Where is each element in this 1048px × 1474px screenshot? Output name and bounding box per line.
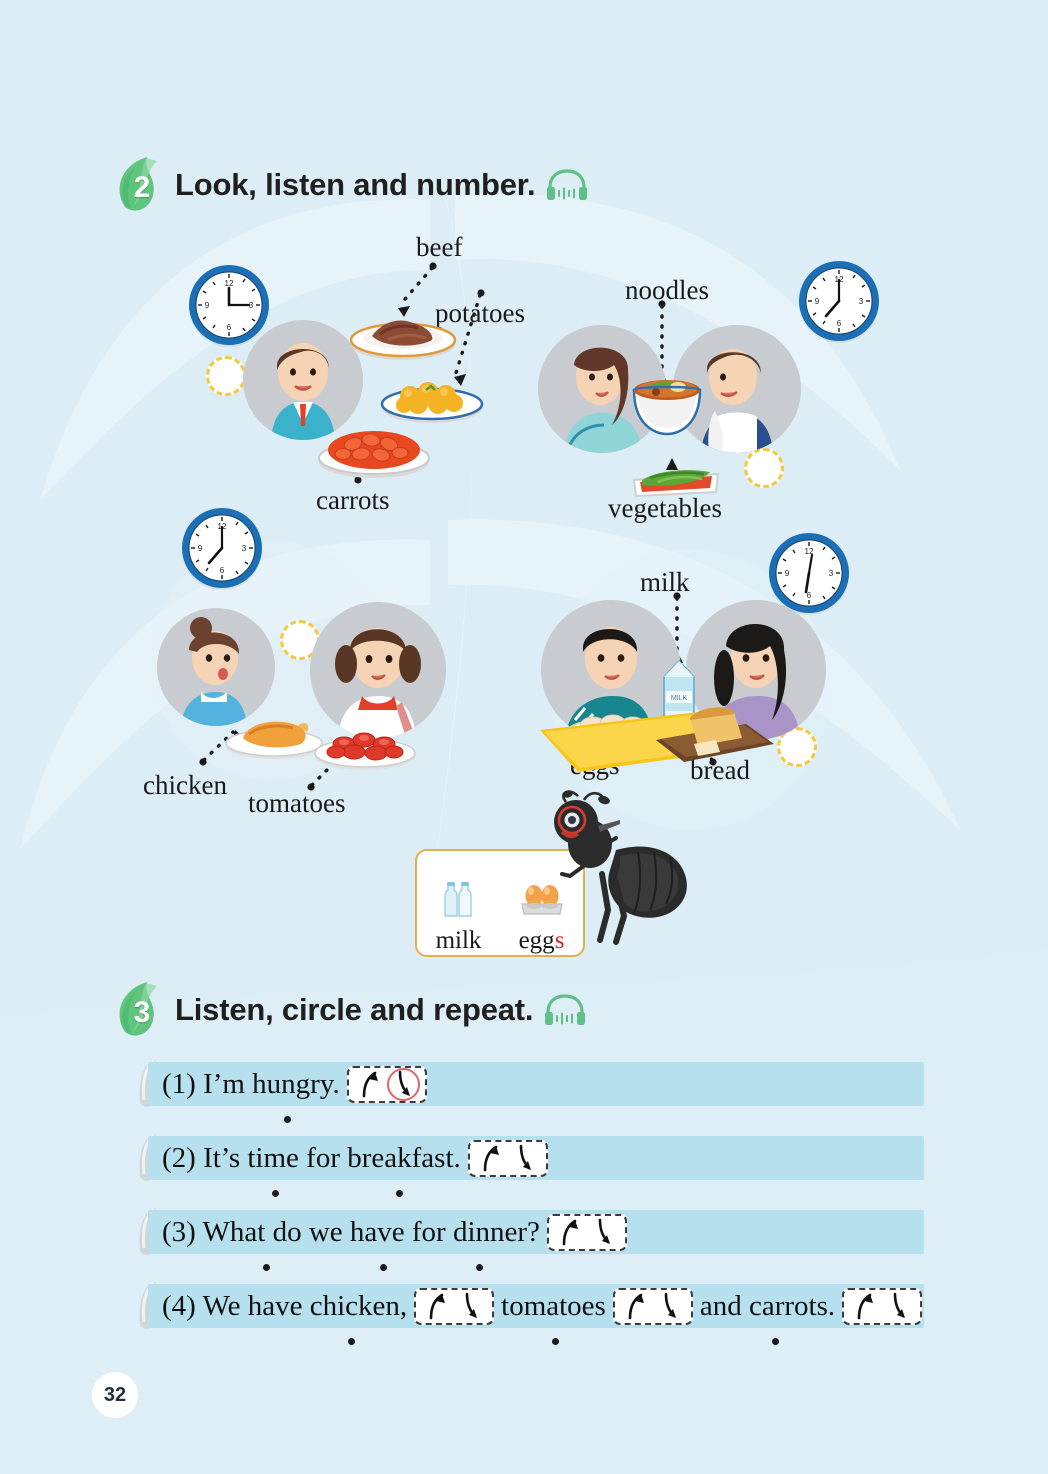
clock-right-bottom: 12 3 6 9 bbox=[765, 530, 853, 623]
stress-dots bbox=[148, 1112, 938, 1132]
svg-text:MILK: MILK bbox=[671, 695, 688, 702]
milk-bottles-icon bbox=[440, 878, 478, 925]
section-number: 3 bbox=[113, 980, 169, 1040]
svg-text:12: 12 bbox=[218, 522, 227, 531]
stress-dots bbox=[148, 1186, 938, 1206]
section-heading-3: 3 Listen, circle and repeat. bbox=[113, 980, 587, 1040]
arrow-down-icon[interactable] bbox=[394, 1070, 414, 1098]
food-eggs-plate bbox=[565, 706, 659, 753]
food-label-chicken: chicken bbox=[143, 770, 227, 801]
tone-choice-box[interactable] bbox=[842, 1288, 922, 1325]
arrow-up-icon[interactable] bbox=[560, 1218, 580, 1246]
arrow-down-icon[interactable] bbox=[889, 1292, 909, 1320]
ant-mascot-icon bbox=[520, 790, 700, 965]
food-label-vegetables: vegetables bbox=[608, 493, 722, 524]
photo-girl-bun bbox=[157, 608, 275, 726]
svg-text:6: 6 bbox=[220, 566, 225, 575]
tone-choice-box[interactable] bbox=[547, 1214, 627, 1251]
arrow-up-icon[interactable] bbox=[626, 1292, 646, 1320]
answer-circle-mark bbox=[387, 1068, 420, 1101]
food-vegetables-plate bbox=[628, 452, 724, 503]
arrow-up-icon[interactable] bbox=[360, 1070, 380, 1098]
arrow-up-icon[interactable] bbox=[481, 1144, 501, 1172]
svg-text:12: 12 bbox=[225, 279, 234, 288]
answer-circle-3[interactable] bbox=[280, 620, 320, 660]
tone-choice-box[interactable] bbox=[613, 1288, 693, 1325]
photo-girl-pigtails bbox=[310, 602, 446, 738]
sentence-text: (4) We have chicken, bbox=[162, 1290, 407, 1323]
arrow-down-icon[interactable] bbox=[515, 1144, 535, 1172]
svg-text:12: 12 bbox=[835, 275, 844, 284]
arrow-down-icon[interactable] bbox=[594, 1218, 614, 1246]
section-title: Look, listen and number. bbox=[175, 167, 535, 203]
svg-text:12: 12 bbox=[805, 547, 814, 556]
food-bread-board bbox=[650, 700, 780, 775]
food-potatoes-plate bbox=[378, 362, 486, 429]
tone-choice-box[interactable] bbox=[347, 1066, 427, 1103]
food-label-carrots: carrots bbox=[316, 485, 389, 516]
sentence-text: (3) What do we have for dinner? bbox=[162, 1216, 540, 1249]
sentence-text: (2) It’s time for breakfast. bbox=[162, 1142, 461, 1175]
food-noodles-bowl bbox=[630, 362, 704, 443]
arrow-down-icon[interactable] bbox=[461, 1292, 481, 1320]
photo-boy-lunch bbox=[243, 320, 363, 440]
svg-text:9: 9 bbox=[205, 301, 210, 310]
arrow-down-icon[interactable] bbox=[660, 1292, 680, 1320]
svg-text:9: 9 bbox=[785, 569, 790, 578]
leaf-badge-2: 2 bbox=[113, 155, 169, 215]
food-label-bread: bread bbox=[690, 755, 750, 786]
headphones-icon bbox=[543, 993, 587, 1027]
svg-text:3: 3 bbox=[829, 569, 834, 578]
svg-text:9: 9 bbox=[198, 544, 203, 553]
food-label-milk: milk bbox=[640, 567, 690, 598]
clock-left-bottom: 12 3 6 9 bbox=[178, 505, 266, 598]
svg-text:3: 3 bbox=[859, 297, 864, 306]
clock-lunch: 12 3 6 9 bbox=[185, 262, 273, 355]
svg-text:6: 6 bbox=[227, 323, 232, 332]
svg-text:6: 6 bbox=[807, 591, 812, 600]
sentence-row-4: (4) We have chicken, tomatoes and carrot… bbox=[136, 1284, 926, 1358]
page-number: 32 bbox=[92, 1372, 138, 1418]
food-label-beef: beef bbox=[416, 232, 462, 263]
food-label-noodles: noodles bbox=[625, 275, 709, 306]
stress-dots bbox=[148, 1334, 938, 1354]
section-heading-2: 2 Look, listen and number. bbox=[113, 155, 589, 215]
svg-text:3: 3 bbox=[249, 301, 254, 310]
svg-text:3: 3 bbox=[242, 544, 247, 553]
arrow-up-icon[interactable] bbox=[855, 1292, 875, 1320]
word-card-label-milk: milk bbox=[436, 927, 482, 955]
activity3-sentence-list: (1) I’m hungry. (2) It’s time fo bbox=[136, 1062, 926, 1358]
svg-text:9: 9 bbox=[815, 297, 820, 306]
sentence-band: (2) It’s time for breakfast. bbox=[148, 1136, 924, 1180]
food-beef-plate bbox=[348, 296, 458, 367]
food-label-eggs: eggs bbox=[570, 750, 620, 781]
sentence-band: (4) We have chicken, tomatoes and carrot… bbox=[148, 1284, 924, 1328]
tone-choice-box[interactable] bbox=[468, 1140, 548, 1177]
food-carrots-plate bbox=[315, 412, 433, 483]
section-title: Listen, circle and repeat. bbox=[175, 992, 533, 1028]
arrow-up-icon[interactable] bbox=[427, 1292, 447, 1320]
picnic-mat bbox=[530, 690, 760, 785]
photo-woman-noodles bbox=[538, 325, 666, 453]
clock-dinner-right-top: 12 3 6 9 bbox=[795, 258, 883, 351]
answer-circle-2[interactable] bbox=[744, 448, 784, 488]
answer-circle-1[interactable] bbox=[206, 356, 246, 396]
photo-woman-breakfast bbox=[686, 600, 826, 740]
food-label-potatoes: potatoes bbox=[435, 298, 525, 329]
photo-boy-noodles bbox=[673, 325, 801, 453]
food-label-tomatoes: tomatoes bbox=[248, 788, 345, 819]
sentence-row-3: (3) What do we have for dinner? bbox=[136, 1210, 926, 1284]
sentence-text: (1) I’m hungry. bbox=[162, 1068, 340, 1101]
stress-dots bbox=[148, 1260, 938, 1280]
sentence-text: tomatoes bbox=[501, 1290, 606, 1323]
sentence-band: (1) I’m hungry. bbox=[148, 1062, 924, 1106]
section-number: 2 bbox=[113, 155, 169, 215]
food-chicken-plate bbox=[223, 712, 325, 767]
answer-circle-4[interactable] bbox=[777, 727, 817, 767]
leaf-badge-3: 3 bbox=[113, 980, 169, 1040]
food-milk-carton: MILK bbox=[654, 655, 704, 760]
photo-man-breakfast bbox=[541, 600, 681, 740]
food-tomatoes-plate bbox=[312, 720, 418, 777]
sentence-band: (3) What do we have for dinner? bbox=[148, 1210, 924, 1254]
sentence-row-2: (2) It’s time for breakfast. bbox=[136, 1136, 926, 1210]
word-card-item-milk: milk bbox=[436, 878, 482, 955]
sentence-row-1: (1) I’m hungry. bbox=[136, 1062, 926, 1136]
sentence-text: and carrots. bbox=[700, 1290, 835, 1323]
headphones-icon bbox=[545, 168, 589, 202]
svg-text:6: 6 bbox=[837, 319, 842, 328]
tone-choice-box[interactable] bbox=[414, 1288, 494, 1325]
